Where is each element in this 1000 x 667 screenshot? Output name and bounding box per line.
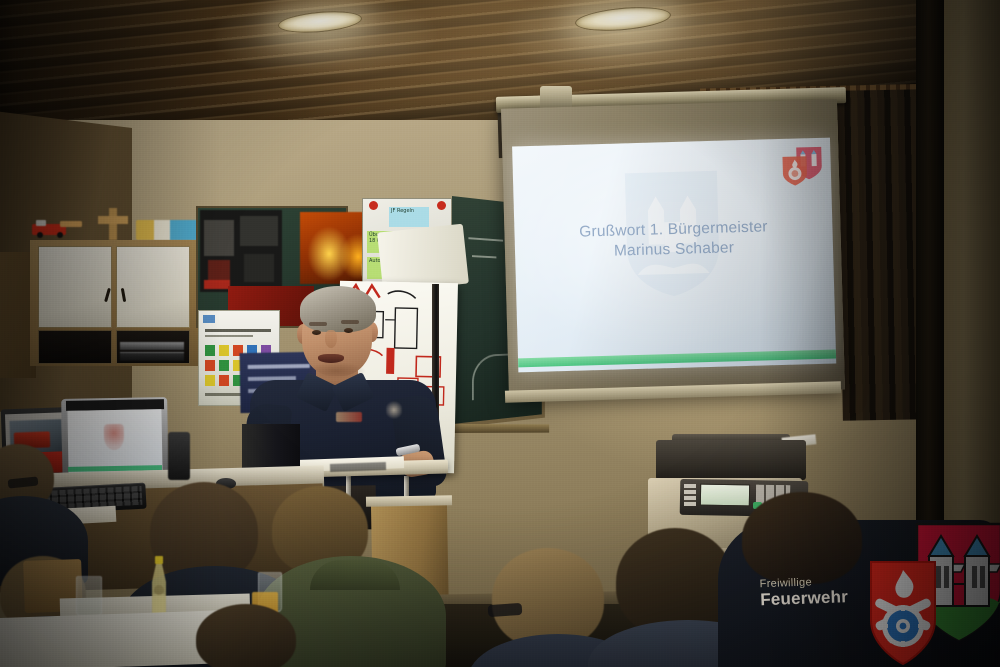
presenter-nose: [325, 330, 337, 348]
magnet-red-right: [437, 201, 446, 210]
chalk-line-2: [472, 255, 496, 258]
audience-hood-3: [310, 560, 400, 590]
right-wall-panel: [940, 0, 1000, 600]
cabinet-door-left[interactable]: [38, 246, 112, 328]
magnet-red-left: [369, 201, 378, 210]
audience-head-4: [492, 548, 604, 648]
presenter-brow-right: [341, 320, 359, 324]
presenter-chin-shadow: [306, 362, 366, 380]
audience-glasses-4: [488, 603, 523, 617]
audience-head-8: [196, 604, 296, 667]
av-device-lower: [120, 352, 184, 361]
photo-scene: JF Regeln Übungsbeginn 18 Uhr jeder mach…: [0, 0, 1000, 667]
chalk-line-1: [468, 237, 503, 241]
desk-telephone[interactable]: [168, 432, 190, 480]
window-curtain: [837, 89, 928, 420]
presenter-chest-logo: [336, 412, 362, 422]
presenter-brow-left: [309, 322, 327, 326]
presenter-eye-left: [312, 330, 321, 335]
firefighters-photo-poster: [200, 210, 282, 292]
presenter-sleeve-logo-right: [386, 400, 402, 420]
screen-sheen: [501, 99, 845, 398]
cabinet-door-right[interactable]: [116, 246, 190, 328]
copier-display-screen[interactable]: [700, 484, 750, 507]
fire-brigade-badge: [871, 562, 935, 664]
door-frame-column: [916, 0, 944, 560]
wooden-cross-ornament: [98, 208, 128, 240]
projection-screen-canvas: Grußwort 1. Bürgermeister Marinus Schabe…: [501, 99, 845, 398]
av-device-upper: [120, 342, 184, 350]
cabinet-open-shelf-left: [38, 330, 112, 364]
chalkboard-tray: [450, 424, 549, 433]
red-toy-fire-truck: [30, 216, 84, 238]
copier-scanner-unit: [656, 440, 806, 480]
projection-screen: Grußwort 1. Bürgermeister Marinus Schabe…: [501, 99, 845, 398]
watermark-coat-of-arms: [855, 512, 1000, 667]
copier-function-buttons[interactable]: [684, 484, 696, 506]
storage-boxes-on-cabinet: [136, 220, 198, 240]
lectern-cabinet-top: [366, 495, 452, 506]
audience-head-6: [742, 492, 862, 584]
drinking-glass-1[interactable]: [76, 576, 102, 616]
sticky-note-jf-regeln: JF Regeln: [389, 207, 429, 227]
presenter-eye-right: [344, 328, 353, 333]
